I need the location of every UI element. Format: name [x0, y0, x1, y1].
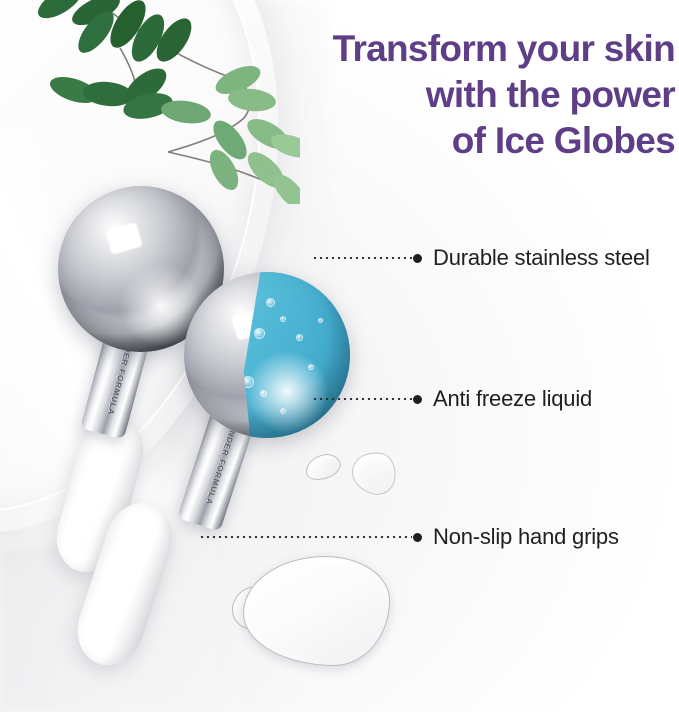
liquid-bubble [260, 390, 267, 397]
liquid-bubble [308, 364, 314, 370]
callout-leader-line [312, 398, 412, 400]
liquid-bubble [280, 408, 286, 414]
headline: Transform your skin with the power of Ic… [255, 26, 675, 164]
callout-anti-freeze-liquid: Anti freeze liquid [312, 386, 592, 412]
callout-leader-line [199, 536, 412, 538]
product-infographic: WONDER FORMULA WONDER FORMULA [0, 0, 679, 712]
liquid-bubble [296, 334, 303, 341]
callout-leader-line [312, 257, 412, 259]
callout-node-dot [413, 254, 422, 263]
callout-label: Anti freeze liquid [433, 386, 592, 412]
callout-non-slip-hand-grips: Non-slip hand grips [199, 524, 619, 550]
callout-label: Durable stainless steel [433, 245, 650, 271]
callout-label: Non-slip hand grips [433, 524, 619, 550]
liquid-bubble [280, 316, 286, 322]
headline-line-2: with the power [255, 72, 675, 118]
callout-node-dot [413, 533, 422, 542]
liquid-bubble [318, 318, 323, 323]
callout-durable-stainless-steel: Durable stainless steel [312, 245, 650, 271]
liquid-bubble [266, 298, 275, 307]
liquid-bubble [254, 328, 265, 339]
headline-line-3: of Ice Globes [255, 118, 675, 164]
callout-node-dot [413, 395, 422, 404]
headline-line-1: Transform your skin [255, 26, 675, 72]
